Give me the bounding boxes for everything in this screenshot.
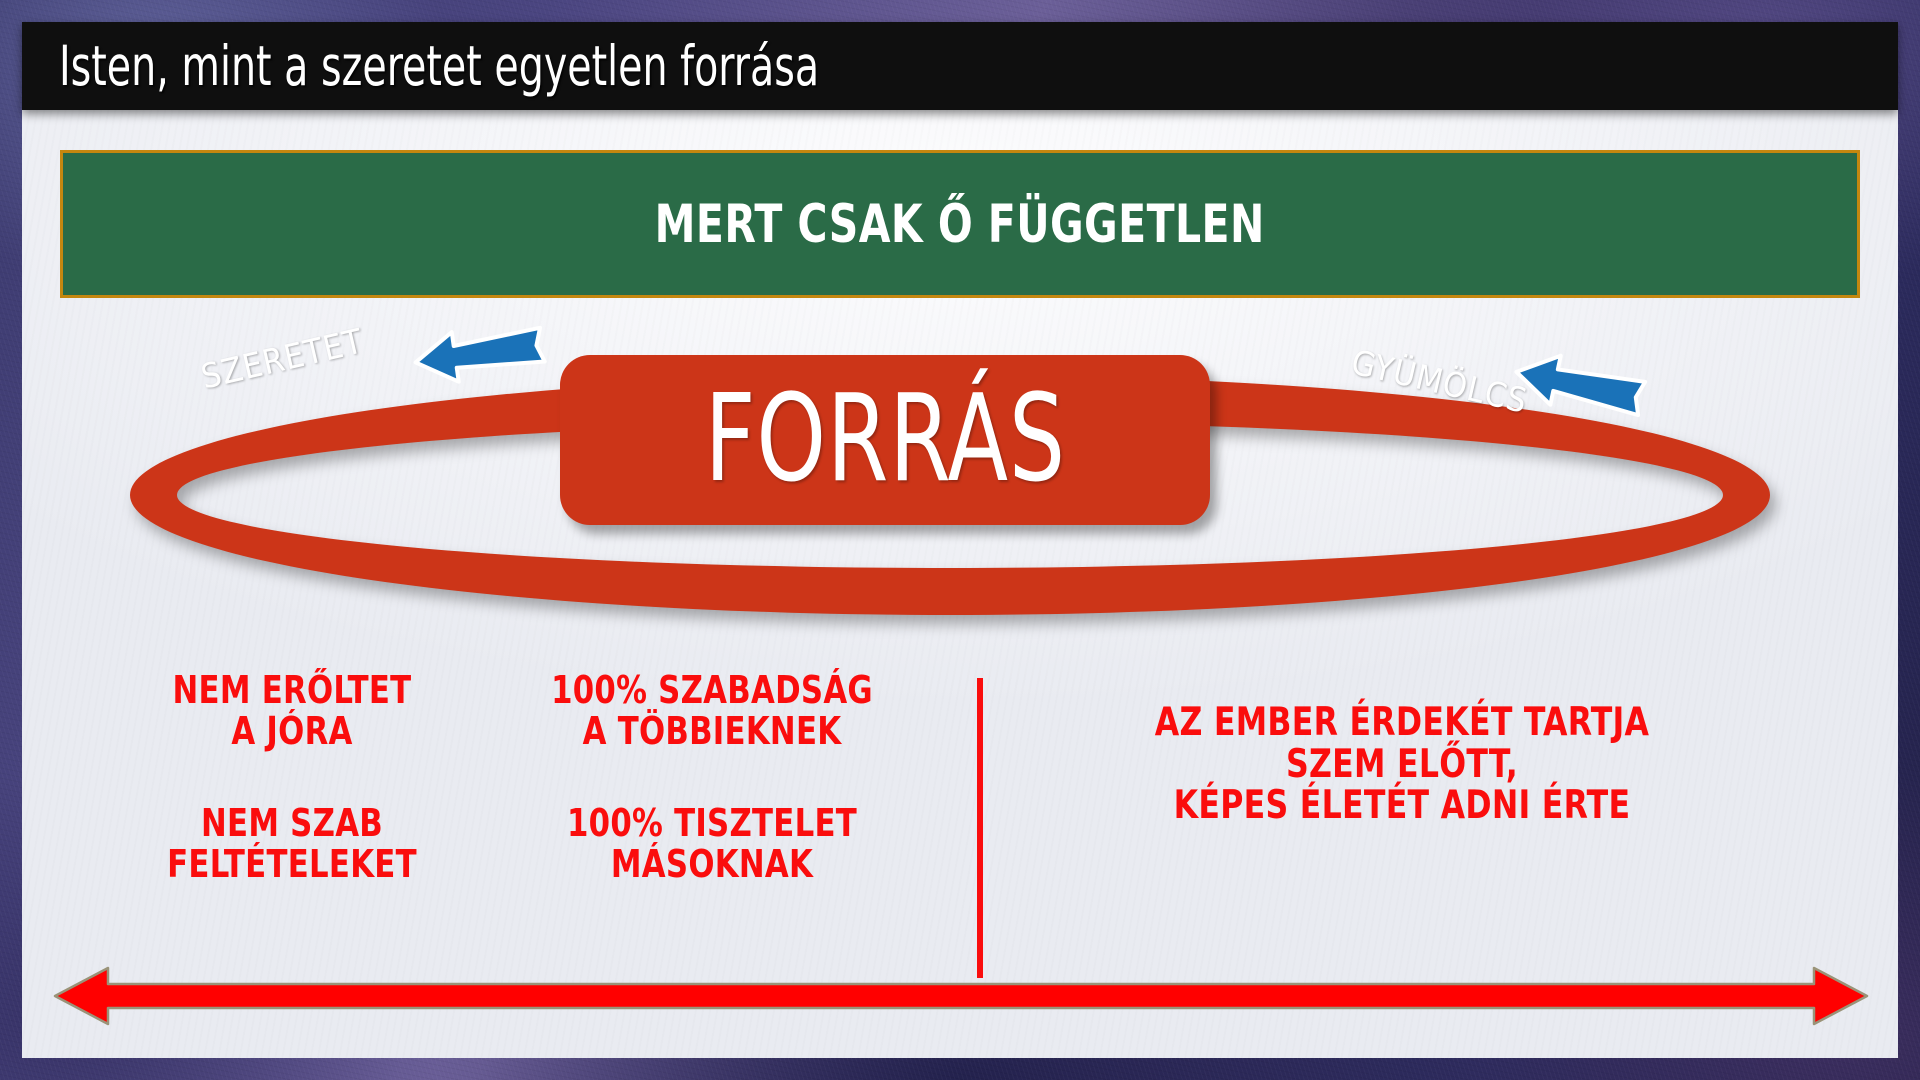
text-line: A JÓRA: [103, 711, 481, 752]
text-line: AZ EMBER ÉRDEKÉT TARTJA: [1069, 702, 1735, 744]
text-line: FELTÉTELEKET: [103, 844, 481, 885]
text-column-middle: 100% SZABADSÁG A TÖBBIEKNEK 100% TISZTEL…: [492, 670, 932, 885]
arrow-left-icon-secondary: [1505, 341, 1656, 436]
ring-label-left: SZERETET: [198, 321, 368, 397]
text-line: NEM SZAB: [103, 803, 481, 844]
text-line: 100% TISZTELET: [514, 803, 910, 844]
text-block: NEM SZAB FELTÉTELEKET: [82, 803, 502, 884]
text-line: 100% SZABADSÁG: [514, 670, 910, 711]
slide-canvas: Isten, mint a szeretet egyetlen forrása …: [0, 0, 1920, 1080]
page-title: Isten, mint a szeretet egyetlen forrása: [59, 39, 819, 94]
text-line: NEM ERŐLTET: [103, 670, 481, 711]
double-headed-arrow-icon: [52, 965, 1870, 1032]
green-banner: MERT CSAK Ő FÜGGETLEN: [60, 150, 1860, 298]
text-line: SZEM ELŐTT,: [1069, 744, 1735, 786]
slide-content-panel: MERT CSAK Ő FÜGGETLEN FORRÁS SZERETET GY…: [22, 110, 1898, 1058]
text-block: NEM ERŐLTET A JÓRA: [82, 670, 502, 751]
slide-title-bar: Isten, mint a szeretet egyetlen forrása: [22, 22, 1898, 110]
text-line: A TÖBBIEKNEK: [514, 711, 910, 752]
arrow-left-icon: [407, 313, 555, 399]
green-banner-label: MERT CSAK Ő FÜGGETLEN: [655, 194, 1265, 255]
text-column-right: AZ EMBER ÉRDEKÉT TARTJA SZEM ELŐTT, KÉPE…: [1032, 702, 1772, 827]
column-divider: [977, 678, 983, 978]
text-line: MÁSOKNAK: [514, 844, 910, 885]
source-box: FORRÁS: [560, 355, 1210, 525]
text-column-left: NEM ERŐLTET A JÓRA NEM SZAB FELTÉTELEKET: [82, 670, 502, 885]
text-block: 100% TISZTELET MÁSOKNAK: [492, 803, 932, 884]
source-box-label: FORRÁS: [704, 380, 1065, 500]
text-block: AZ EMBER ÉRDEKÉT TARTJA SZEM ELŐTT, KÉPE…: [1032, 702, 1772, 827]
text-line: KÉPES ÉLETÉT ADNI ÉRTE: [1069, 785, 1735, 827]
text-block: 100% SZABADSÁG A TÖBBIEKNEK: [492, 670, 932, 751]
ring-label-right: GYÜMÖLCS: [1348, 343, 1532, 422]
